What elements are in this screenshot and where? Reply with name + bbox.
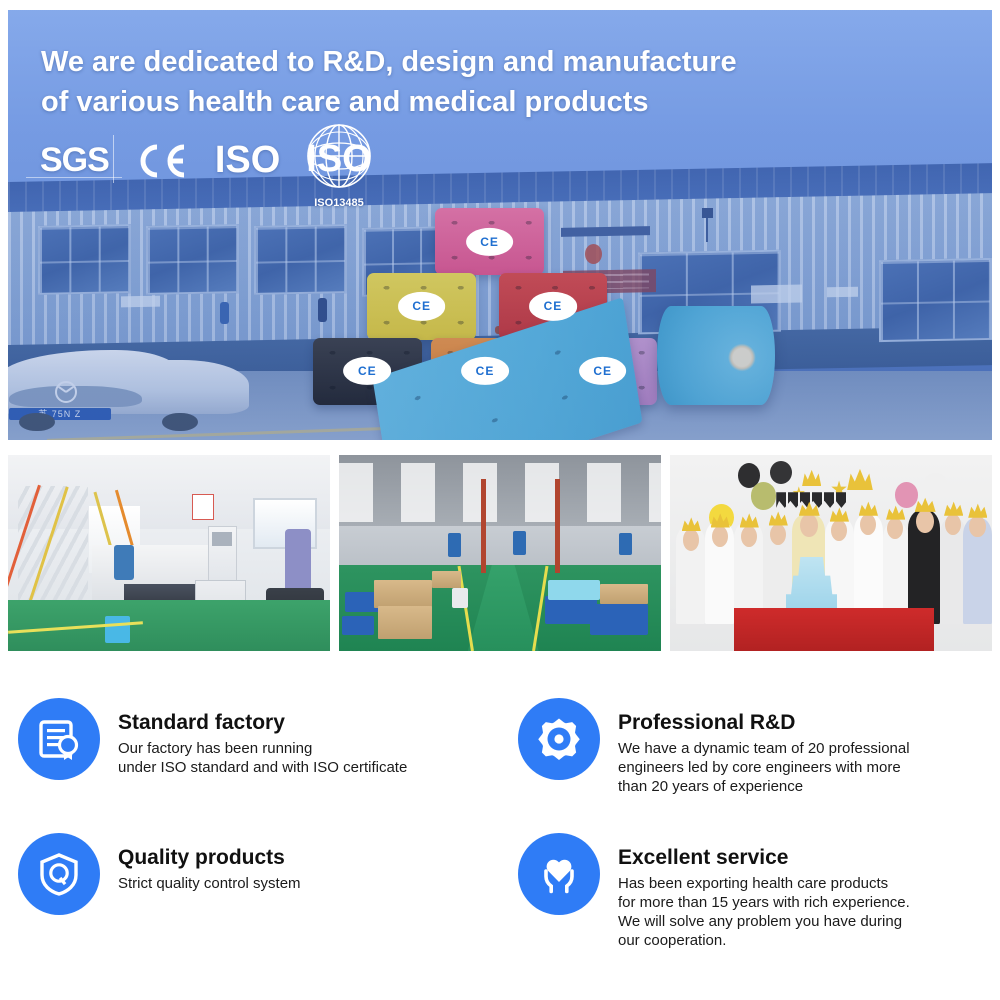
carton-box [432,571,461,589]
worker [513,531,526,555]
red-table [734,608,934,651]
factory-window [146,224,239,295]
iso-standard-code: ISO13485 [314,197,364,209]
worker [285,529,311,596]
feature-text: Standard factory Our factory has been ru… [118,698,407,777]
ce-mark-icon [135,143,189,179]
green-floor [8,600,330,651]
blue-crate [342,616,374,636]
feature-professional-rd: Professional R&D We have a dynamic team … [500,690,1000,825]
balloon [895,482,918,507]
feature-list: Standard factory Our factory has been ru… [0,690,1000,958]
team-member-head [770,524,786,546]
carton-box [374,580,432,607]
worker [448,533,461,557]
kinesiology-tape-rolls: CE CE CE CE CE CE [313,204,766,428]
mercedes-car: 苏 75N Z [8,337,249,432]
factory-window [38,224,131,295]
wall-plate [827,287,858,298]
feature-standard-factory: Standard factory Our factory has been ru… [0,690,500,825]
feature-text: Quality products Strict quality control … [118,833,301,893]
mercedes-star-icon [55,381,77,403]
iso-logo-icon: ISO [215,139,280,182]
car-wheel [19,413,55,432]
safety-sign [192,494,215,519]
gallery-photo-assembly-workshop[interactable] [339,455,661,651]
ce-badge: CE [461,357,509,385]
headline-line-1: We are dedicated to R&D, design and manu… [41,46,737,78]
worker [114,545,133,580]
tape-roll-pink: CE [435,208,544,275]
photo-gallery [8,455,992,651]
shield-quality-icon [18,833,100,915]
worker [619,533,632,555]
product-tray [548,580,600,600]
feature-title: Excellent service [618,845,910,871]
ceiling-lights [339,463,661,522]
headline-line-2: of various health care and medical produ… [41,82,828,122]
hero-banner: 苏 75N Z CE CE CE CE CE CE [8,10,992,440]
wall-plate [121,296,160,308]
team-member-head [683,529,699,551]
certification-logos: SGS ISO [40,138,372,183]
balloon [924,473,947,498]
feature-title: Quality products [118,845,301,871]
gallery-photo-team-celebration[interactable] [670,455,992,651]
feature-title: Standard factory [118,710,407,736]
feature-description: Strict quality control system [118,874,301,893]
carton-box [600,584,648,604]
blue-crate [545,596,597,623]
ce-badge: CE [398,292,446,320]
stair-structure [18,486,89,611]
feature-title: Professional R&D [618,710,910,736]
team-member-head [741,526,757,548]
feature-description: Has been exporting health care products … [618,874,910,950]
feature-description: Our factory has been running under ISO s… [118,739,407,777]
stool [452,588,468,608]
feature-description: We have a dynamic team of 20 professiona… [618,739,910,796]
tape-roll-yellow: CE [367,273,476,340]
ce-badge: CE [343,357,391,385]
certificate-icon [18,698,100,780]
ce-badge: CE [529,292,577,320]
carton-box [378,606,433,639]
tape-roll-blue [657,306,775,404]
person-silhouette [220,302,229,324]
gallery-photo-production-line[interactable] [8,455,330,651]
gear-icon [518,698,600,780]
ce-badge: CE [579,357,627,385]
hero-headline: We are dedicated to R&D, design and manu… [41,42,828,122]
support-pillar [555,479,560,573]
sgs-logo-icon: SGS [40,141,109,180]
feature-text: Excellent service Has been exporting hea… [618,833,910,950]
heart-in-hands-icon [518,833,600,915]
blue-stool [105,616,131,643]
iso13485-globe-icon: ISO ISO13485 [306,138,371,183]
ce-badge: CE [466,227,514,255]
car-wheel [162,413,198,432]
factory-window [879,258,992,342]
balloon [751,482,777,509]
support-pillar [481,479,486,573]
promo-page: 苏 75N Z CE CE CE CE CE CE [0,0,1000,1000]
feature-text: Professional R&D We have a dynamic team … [618,698,910,796]
iso-text: ISO [306,138,371,181]
feature-quality-products: Quality products Strict quality control … [0,825,500,958]
blue-crate [590,604,648,635]
team-member-head [969,516,985,538]
team-member-head [712,526,728,548]
feature-excellent-service: Excellent service Has been exporting hea… [500,825,1000,958]
